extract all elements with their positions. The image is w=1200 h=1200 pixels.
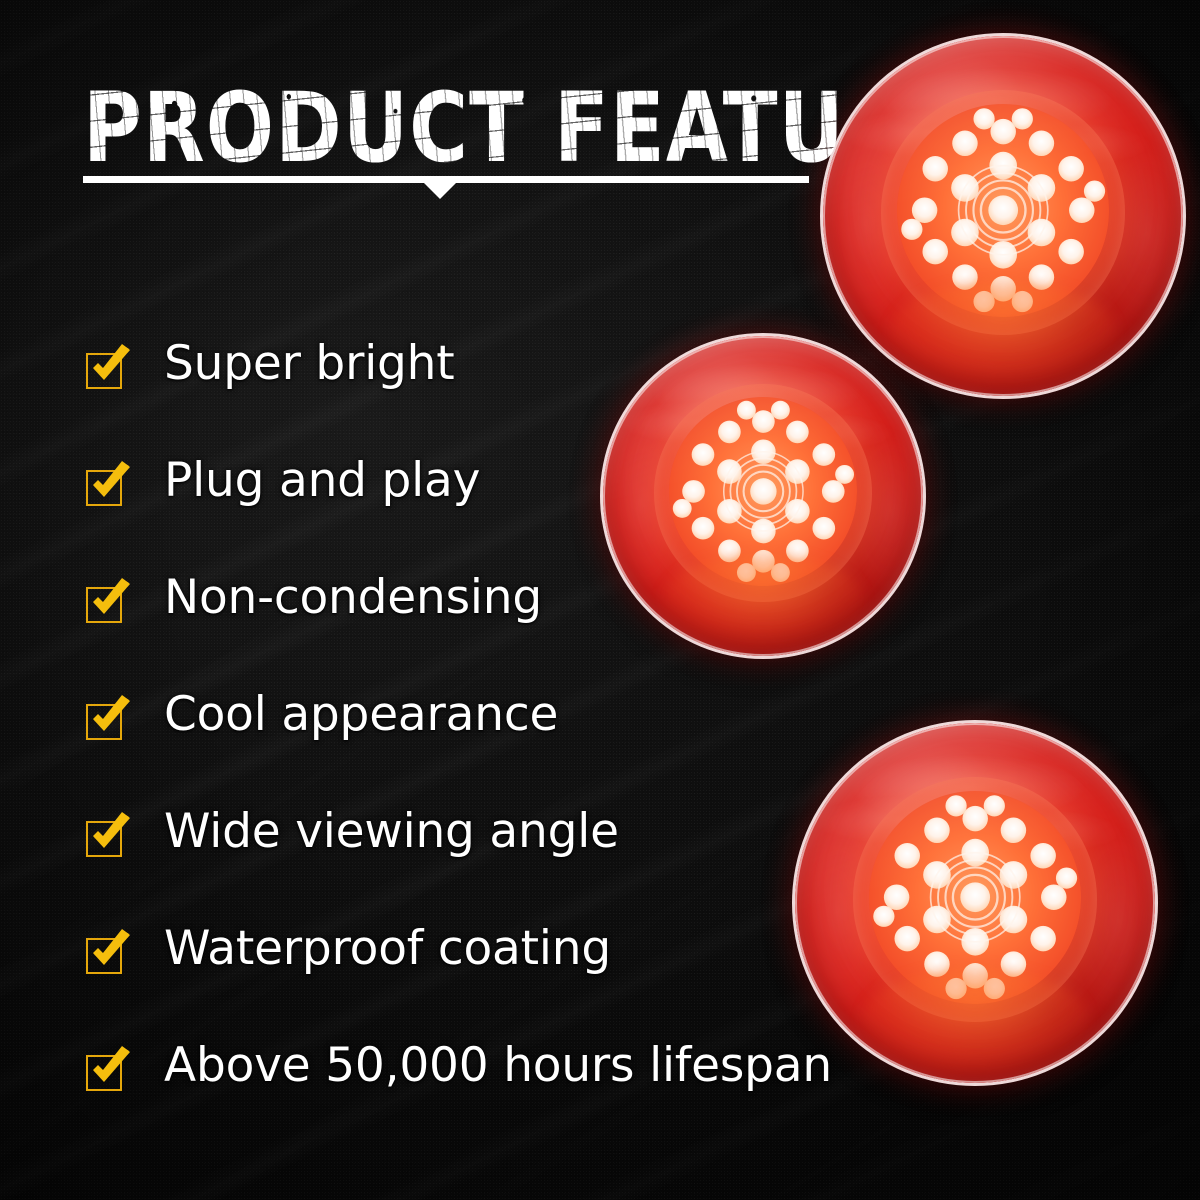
feature-item: Above 50,000 hours lifespan bbox=[84, 1042, 964, 1159]
checkbox-checked-icon bbox=[84, 349, 128, 393]
checkbox-checked-icon bbox=[84, 700, 128, 744]
checkmark-icon bbox=[83, 460, 135, 512]
feature-label: Above 50,000 hours lifespan bbox=[164, 1042, 832, 1089]
title-block: PRODUCT FEATURES bbox=[83, 84, 823, 157]
feature-label: Cool appearance bbox=[164, 691, 558, 738]
checkmark-icon bbox=[83, 811, 135, 863]
checkbox-checked-icon bbox=[84, 1051, 128, 1095]
checkbox-checked-icon bbox=[84, 583, 128, 627]
checkbox-checked-icon bbox=[84, 466, 128, 510]
feature-item: Plug and play bbox=[84, 457, 964, 574]
feature-label: Super bright bbox=[164, 340, 455, 387]
feature-label: Waterproof coating bbox=[164, 925, 611, 972]
divider-notch-icon bbox=[423, 182, 457, 199]
checkmark-icon bbox=[83, 694, 135, 746]
checkbox-checked-icon bbox=[84, 817, 128, 861]
feature-item: Wide viewing angle bbox=[84, 808, 964, 925]
feature-item: Super bright bbox=[84, 340, 964, 457]
feature-label: Wide viewing angle bbox=[164, 808, 619, 855]
title-divider bbox=[83, 176, 809, 202]
checkmark-icon bbox=[83, 343, 135, 395]
feature-label: Plug and play bbox=[164, 457, 480, 504]
feature-item: Waterproof coating bbox=[84, 925, 964, 1042]
page-title: PRODUCT FEATURES bbox=[83, 84, 845, 175]
checkmark-icon bbox=[83, 577, 135, 629]
feature-list: Super bright Plug and play Non-condensin bbox=[84, 340, 964, 1159]
feature-item: Non-condensing bbox=[84, 574, 964, 691]
checkbox-checked-icon bbox=[84, 934, 128, 978]
feature-item: Cool appearance bbox=[84, 691, 964, 808]
product-features-poster: PRODUCT FEATURES Super bright bbox=[0, 0, 1200, 1200]
checkmark-icon bbox=[83, 1045, 135, 1097]
checkmark-icon bbox=[83, 928, 135, 980]
feature-label: Non-condensing bbox=[164, 574, 542, 621]
